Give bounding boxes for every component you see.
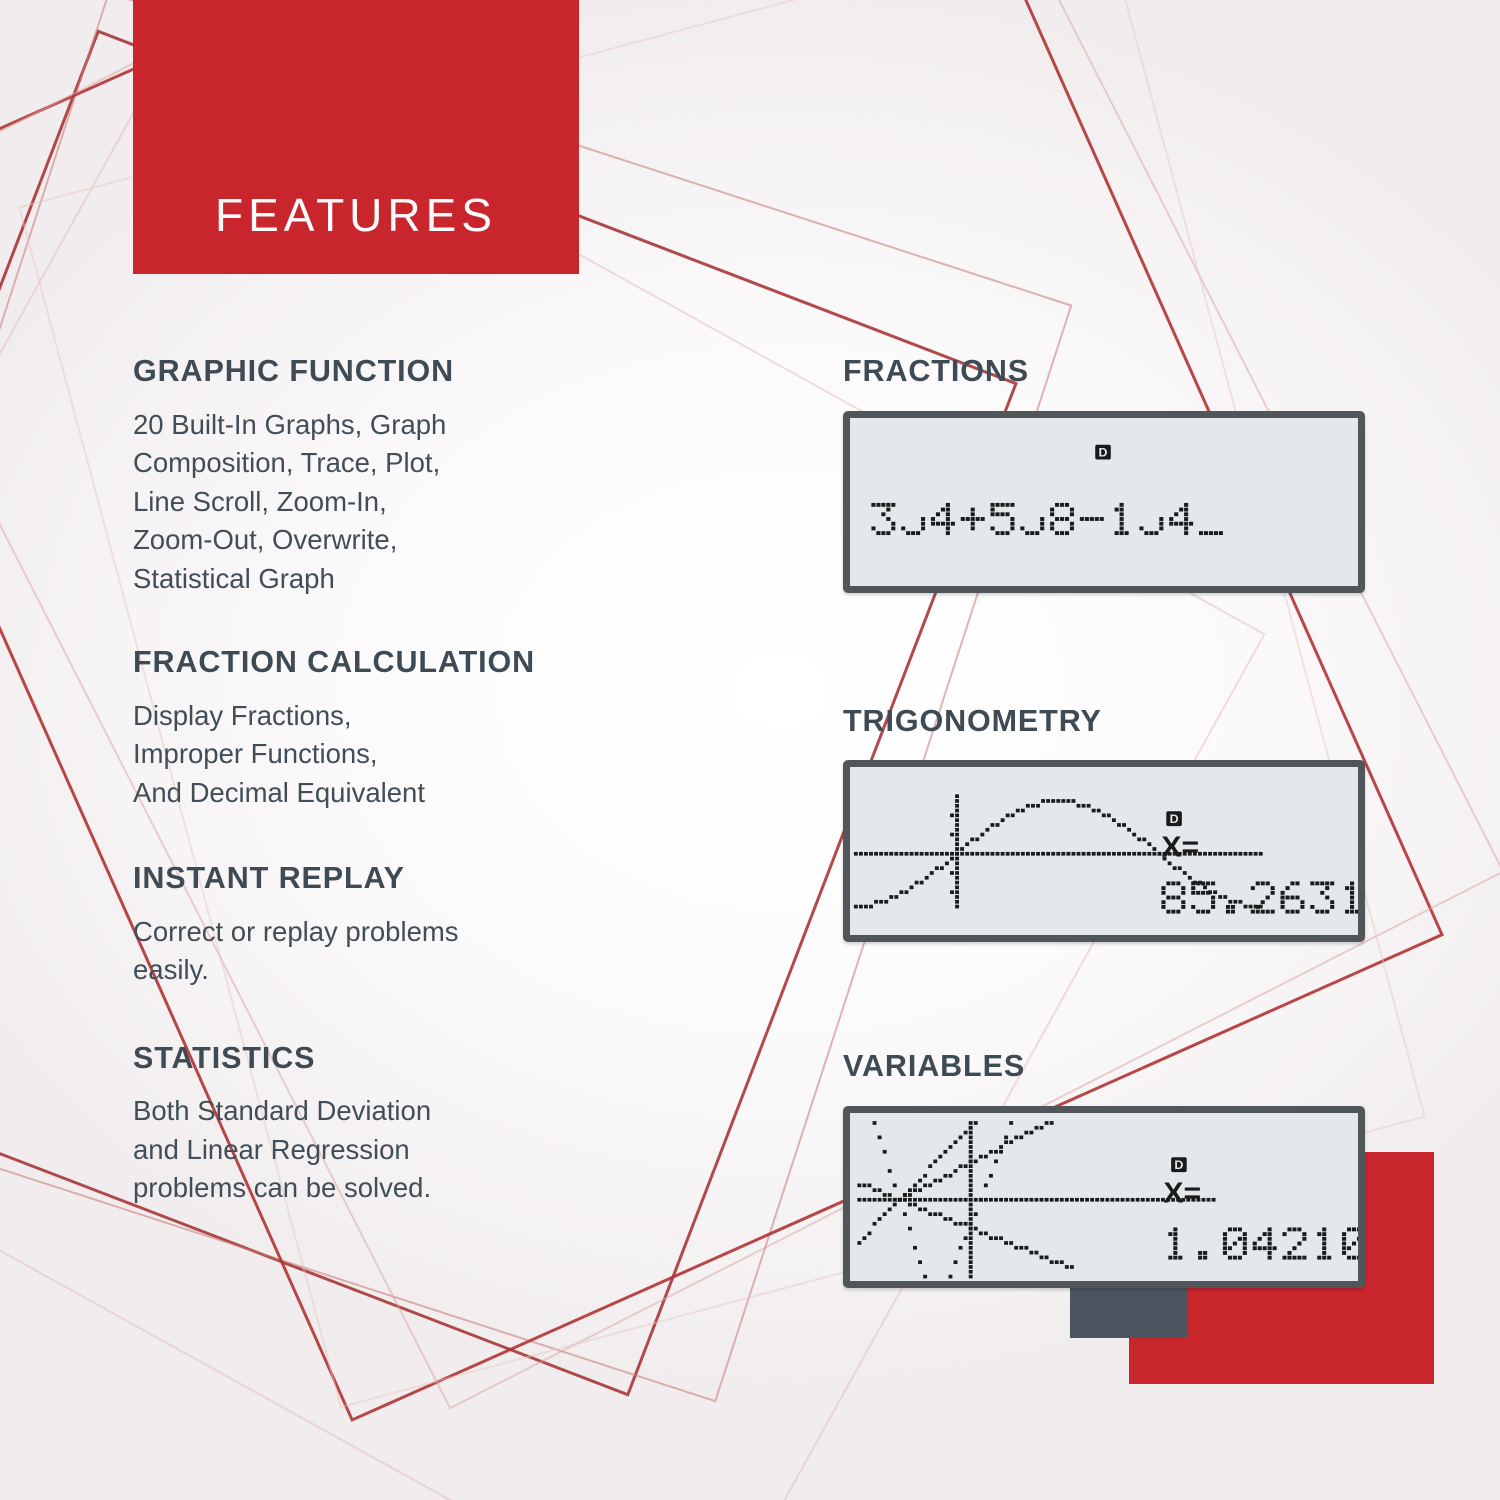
feature-heading: GRAPHIC FUNCTION xyxy=(133,355,703,389)
mode-indicator-d-icon: D xyxy=(1166,811,1182,826)
feature-body: Both Standard Deviation and Linear Regre… xyxy=(133,1092,703,1208)
panel-trigonometry: TRIGONOMETRY D X= xyxy=(843,705,1373,943)
fraction-expression-dots xyxy=(871,502,1223,534)
trig-value-dots xyxy=(1161,882,1358,914)
feature-heading: FRACTION CALCULATION xyxy=(133,646,703,680)
feature-heading: INSTANT REPLAY xyxy=(133,862,703,896)
panel-fractions: FRACTIONS D xyxy=(843,355,1373,593)
svg-text:D: D xyxy=(1170,812,1179,826)
panel-variables: VARIABLES D X= xyxy=(843,1050,1373,1288)
svg-text:D: D xyxy=(1174,1158,1183,1172)
features-badge: FEATURES xyxy=(133,0,579,274)
x-prompt-label: X= xyxy=(1163,1177,1201,1209)
mode-indicator-d-icon: D xyxy=(1095,444,1111,459)
feature-graphic-function: GRAPHIC FUNCTION 20 Built-In Graphs, Gra… xyxy=(133,355,703,598)
feature-statistics: STATISTICS Both Standard Deviation and L… xyxy=(133,1042,703,1208)
variables-value-dots xyxy=(1168,1227,1358,1259)
x-prompt-label: X= xyxy=(1161,831,1199,863)
lcd-screen-fractions: D xyxy=(843,411,1365,593)
feature-body: Display Fractions, Improper Functions, A… xyxy=(133,697,703,813)
panel-heading: TRIGONOMETRY xyxy=(843,705,1373,739)
feature-body: Correct or replay problems easily. xyxy=(133,913,703,990)
svg-text:X=: X= xyxy=(1163,1177,1201,1209)
page-title: FEATURES xyxy=(133,188,579,242)
variables-display-graphic: D X= xyxy=(850,1113,1358,1281)
trigonometry-display-graphic: D X= xyxy=(850,767,1358,935)
lcd-screen-variables: D X= xyxy=(843,1106,1365,1288)
left-feature-column: GRAPHIC FUNCTION 20 Built-In Graphs, Gra… xyxy=(133,355,703,1252)
panel-heading: VARIABLES xyxy=(843,1050,1373,1084)
panel-heading: FRACTIONS xyxy=(843,355,1373,389)
fractions-display-graphic: D xyxy=(850,418,1358,586)
right-screens-column: FRACTIONS D TRIGONOMETRY D X= xyxy=(843,355,1373,1288)
feature-body: 20 Built-In Graphs, Graph Composition, T… xyxy=(133,406,703,599)
lcd-screen-trigonometry: D X= xyxy=(843,760,1365,942)
svg-text:D: D xyxy=(1099,445,1108,459)
svg-text:X=: X= xyxy=(1161,831,1199,863)
feature-instant-replay: INSTANT REPLAY Correct or replay problem… xyxy=(133,862,703,990)
mode-indicator-d-icon: D xyxy=(1171,1157,1187,1172)
feature-fraction-calculation: FRACTION CALCULATION Display Fractions, … xyxy=(133,646,703,812)
multiple-lines-plot xyxy=(857,1121,1215,1278)
feature-infographic-page: FEATURES GRAPHIC FUNCTION 20 Built-In Gr… xyxy=(0,0,1500,1500)
feature-heading: STATISTICS xyxy=(133,1042,703,1076)
